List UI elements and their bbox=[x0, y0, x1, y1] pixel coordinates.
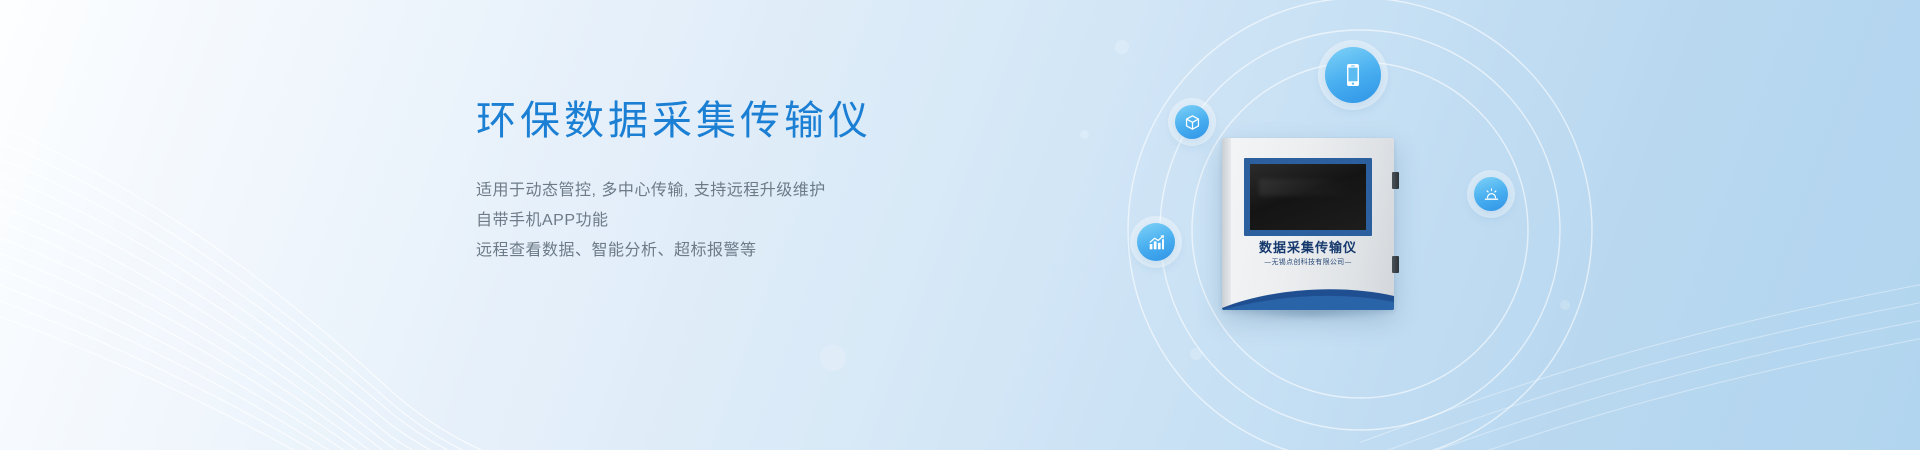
device-screen-bezel bbox=[1244, 158, 1372, 236]
feature-list: 适用于动态管控, 多中心传输, 支持远程升级维护 自带手机APP功能 远程查看数… bbox=[476, 176, 1116, 266]
device-cabinet: 数据采集传输仪 —无锡点创科技有限公司— bbox=[1222, 138, 1394, 310]
bar-chart-icon bbox=[1137, 223, 1175, 261]
page-title: 环保数据采集传输仪 bbox=[476, 96, 1116, 146]
bokeh-circle bbox=[1115, 40, 1129, 54]
banner-copy: 环保数据采集传输仪 适用于动态管控, 多中心传输, 支持远程升级维护 自带手机A… bbox=[476, 96, 1116, 266]
bokeh-circle bbox=[820, 345, 846, 371]
cabinet-hinge bbox=[1392, 256, 1399, 273]
device-brand-plate: 数据采集传输仪 —无锡点创科技有限公司— bbox=[1222, 242, 1394, 267]
wave-decoration-right bbox=[1360, 150, 1920, 450]
feature-item: 自带手机APP功能 bbox=[476, 206, 1116, 236]
bokeh-circle bbox=[1560, 300, 1570, 310]
cabinet-hinge bbox=[1392, 172, 1399, 189]
bokeh-circle bbox=[1190, 348, 1202, 360]
alarm-siren-icon bbox=[1474, 177, 1508, 211]
device-panel-title: 数据采集传输仪 bbox=[1222, 242, 1394, 256]
feature-item: 适用于动态管控, 多中心传输, 支持远程升级维护 bbox=[476, 176, 1116, 206]
device-panel-company: —无锡点创科技有限公司— bbox=[1222, 259, 1394, 267]
device-screen bbox=[1250, 164, 1366, 230]
product-device-image: 数据采集传输仪 —无锡点创科技有限公司— bbox=[1222, 138, 1394, 310]
cube-box-icon bbox=[1175, 105, 1209, 139]
cabinet-base-band bbox=[1222, 282, 1394, 310]
mobile-phone-icon bbox=[1325, 47, 1381, 103]
product-banner: 环保数据采集传输仪 适用于动态管控, 多中心传输, 支持远程升级维护 自带手机A… bbox=[0, 0, 1920, 450]
screen-reflection bbox=[1259, 179, 1356, 196]
feature-item: 远程查看数据、智能分析、超标报警等 bbox=[476, 236, 1116, 266]
